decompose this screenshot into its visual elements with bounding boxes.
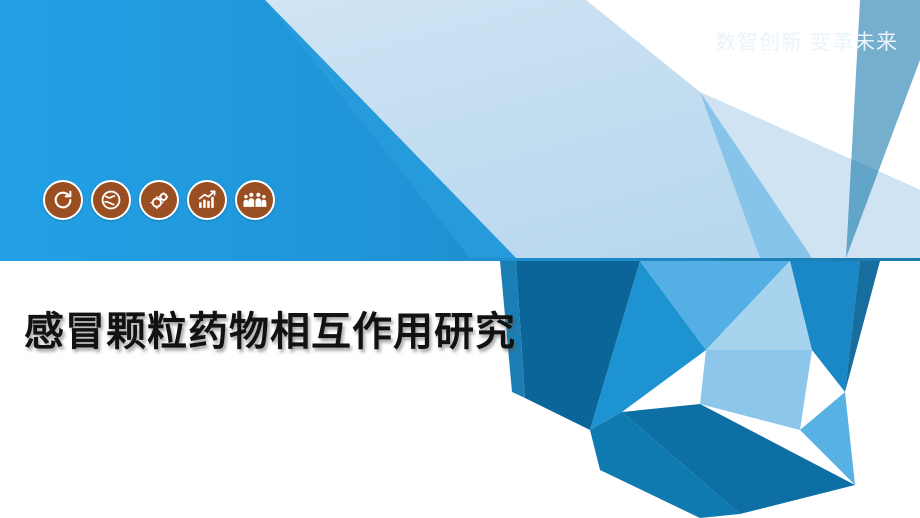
icon-badge-refresh[interactable]: [43, 180, 83, 220]
slide-tagline: 数智创新 变革未来: [715, 26, 898, 56]
icon-badge-bar-chart[interactable]: [187, 180, 227, 220]
icon-badge-globe[interactable]: [91, 180, 131, 220]
background-artwork: [0, 0, 920, 518]
bar-chart-icon: [196, 189, 218, 211]
icon-badge-gears[interactable]: [139, 180, 179, 220]
icon-strip: [43, 180, 275, 220]
globe-icon: [100, 189, 122, 211]
icon-badge-people-group[interactable]: [235, 180, 275, 220]
people-group-icon: [243, 189, 267, 211]
slide-title: 感冒颗粒药物相互作用研究: [24, 299, 516, 357]
presentation-slide: 数智创新 变革未来: [0, 0, 920, 518]
gears-icon: [148, 189, 171, 212]
refresh-arrow-icon: [52, 189, 74, 211]
